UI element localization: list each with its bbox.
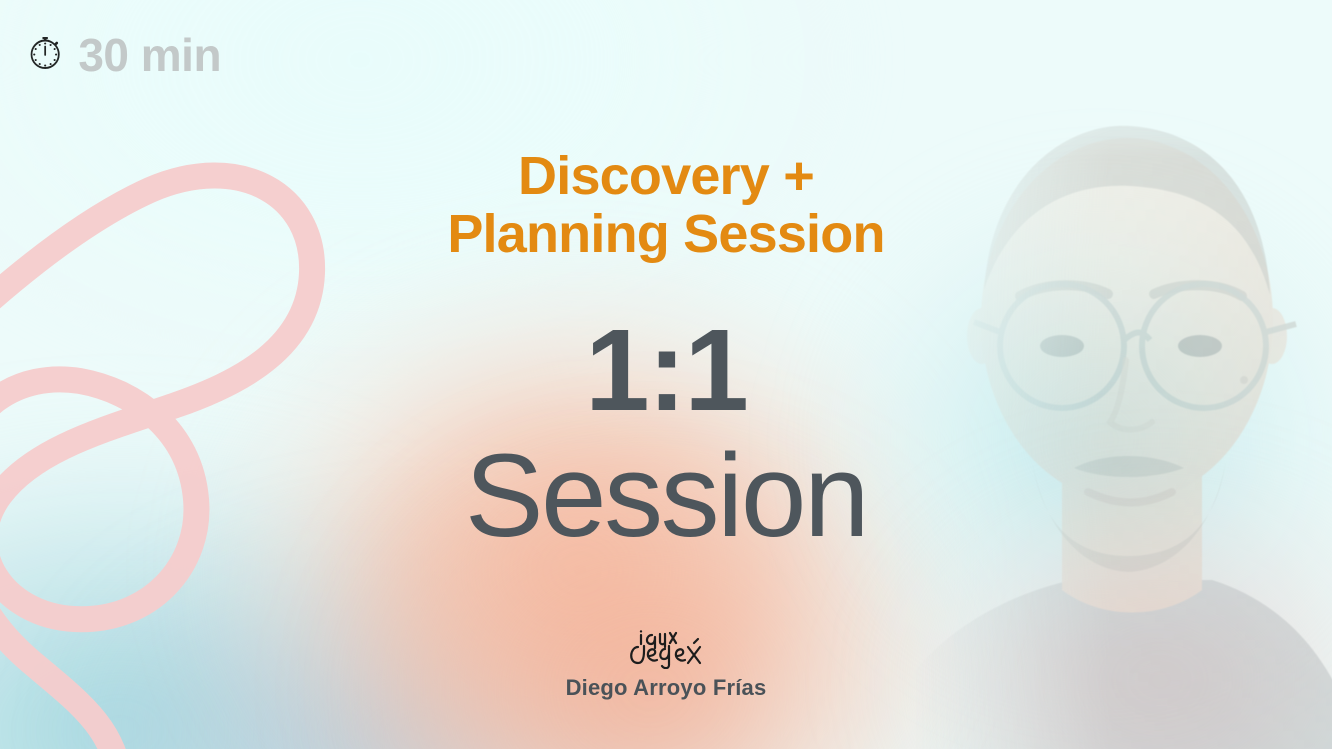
background-blob-rose xyxy=(880,470,1332,749)
background-blob-peach-core xyxy=(330,430,970,749)
background-blob-cyan xyxy=(820,180,1332,700)
session-duration-badge: ⏱ 30 min xyxy=(28,32,221,78)
headline-number: 1:1 xyxy=(585,312,747,428)
diguex-wordmark-logo xyxy=(620,629,712,669)
headline-word: Session xyxy=(465,436,867,556)
session-type-line-1: Discovery + xyxy=(356,148,976,206)
session-type-line-2: Planning Session xyxy=(356,206,976,264)
duration-label: 30 min xyxy=(78,32,221,78)
stopwatch-icon: ⏱ xyxy=(28,33,62,77)
brand-footer: Diego Arroyo Frías xyxy=(0,629,1332,699)
presenter-name: Diego Arroyo Frías xyxy=(566,677,767,699)
session-type-heading: Discovery + Planning Session xyxy=(356,148,976,264)
session-card: ⏱ 30 min Discovery + Planning Session 1:… xyxy=(0,0,1332,749)
background-blob-teal xyxy=(0,430,570,749)
